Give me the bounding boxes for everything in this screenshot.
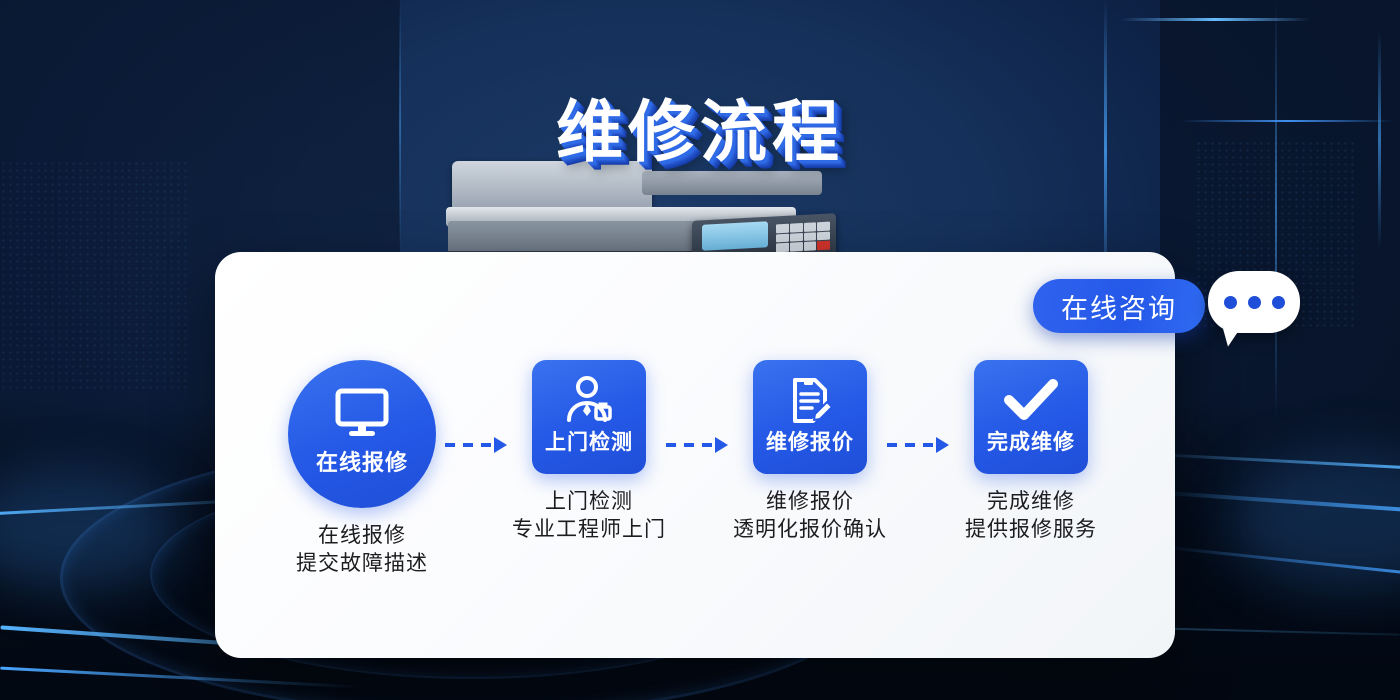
flow-card: 在线报修 在线报修 提交故障描述 — [215, 252, 1175, 658]
flow-step-2-caption: 上门检测 专业工程师上门 — [509, 488, 669, 545]
flow-connector-2-arrowhead — [715, 437, 728, 453]
flow-connector-1-dash — [445, 443, 493, 447]
flow-step-4[interactable]: 完成维修 完成维修 提供报修服务 — [951, 360, 1111, 545]
flow-step-3-caption-desc: 透明化报价确认 — [730, 516, 890, 544]
flow-step-3[interactable]: 维修报价 维修报价 透明化报价确认 — [730, 360, 890, 545]
flow-step-4-caption-title: 完成维修 — [951, 488, 1111, 516]
page-title: 维修流程 — [0, 78, 1400, 175]
flow-step-1-badge[interactable]: 在线报修 — [288, 360, 436, 508]
printer-keypad — [776, 222, 830, 253]
flow-step-1-caption-desc: 提交故障描述 — [282, 550, 442, 578]
flow-connector-3 — [887, 438, 949, 452]
background-dot-grid-left — [0, 160, 190, 390]
flow-step-3-caption: 维修报价 透明化报价确认 — [730, 488, 890, 545]
flow-step-4-caption-desc: 提供报修服务 — [951, 516, 1111, 544]
flow-connector-1 — [445, 438, 507, 452]
printer-lcd-screen — [702, 221, 768, 250]
flow-step-4-badge-label: 完成维修 — [987, 432, 1075, 453]
flow-step-1-badge-label: 在线报修 — [316, 452, 408, 474]
flow-step-2-caption-title: 上门检测 — [509, 488, 669, 516]
flow-step-3-caption-title: 维修报价 — [730, 488, 890, 516]
flow-step-1-caption-title: 在线报修 — [282, 522, 442, 550]
flow-step-4-caption: 完成维修 提供报修服务 — [951, 488, 1111, 545]
speech-bubble-ellipsis-icon[interactable] — [1208, 271, 1300, 333]
bubble-dot-3 — [1272, 296, 1285, 309]
checkmark-icon — [1003, 374, 1059, 426]
monitor-icon — [334, 384, 390, 442]
bubble-dot-2 — [1248, 296, 1261, 309]
flow-connector-2 — [666, 438, 728, 452]
engineer-person-icon — [563, 374, 615, 426]
online-consult-button[interactable]: 在线咨询 — [1033, 279, 1205, 333]
flow-step-2-caption-desc: 专业工程师上门 — [509, 516, 669, 544]
document-pen-icon — [785, 374, 835, 426]
flow-step-2[interactable]: 上门检测 上门检测 专业工程师上门 — [509, 360, 669, 545]
flow-step-1[interactable]: 在线报修 在线报修 提交故障描述 — [282, 360, 442, 579]
flow-step-3-badge-label: 维修报价 — [766, 432, 854, 453]
flow-step-2-badge-label: 上门检测 — [545, 432, 633, 453]
flow-step-1-caption: 在线报修 提交故障描述 — [282, 522, 442, 579]
flow-step-3-badge[interactable]: 维修报价 — [753, 360, 867, 474]
repair-flow-diagram: 在线报修 在线报修 提交故障描述 — [215, 360, 1175, 590]
background-glow-line-top-right — [1120, 18, 1310, 21]
poster-stage: 维修流程 在线报修 在线报修 提交故障描述 — [0, 0, 1400, 700]
bubble-dot-1 — [1224, 296, 1237, 309]
flow-connector-2-dash — [666, 443, 714, 447]
flow-connector-1-arrowhead — [494, 437, 507, 453]
flow-connector-3-arrowhead — [936, 437, 949, 453]
flow-step-2-badge[interactable]: 上门检测 — [532, 360, 646, 474]
flow-connector-3-dash — [887, 443, 935, 447]
online-consult-label: 在线咨询 — [1061, 287, 1177, 326]
flow-step-4-badge[interactable]: 完成维修 — [974, 360, 1088, 474]
